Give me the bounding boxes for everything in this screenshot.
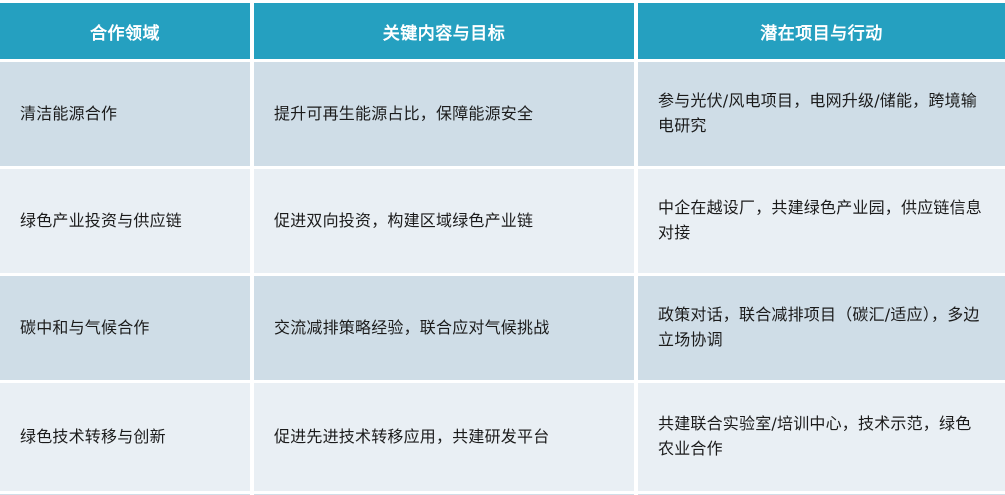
cell-content: 促进双向投资，构建区域绿色产业链 xyxy=(254,169,638,276)
column-header-area: 合作领域 xyxy=(0,0,254,62)
cell-content: 提升可再生能源占比，保障能源安全 xyxy=(254,62,638,169)
table-row: 碳中和与气候合作 交流减排策略经验，联合应对气候挑战 政策对话，联合减排项目（碳… xyxy=(0,276,1005,383)
header-row: 合作领域 关键内容与目标 潜在项目与行动 xyxy=(0,0,1005,62)
cell-area: 碳中和与气候合作 xyxy=(0,276,254,383)
cell-area: 绿色技术转移与创新 xyxy=(0,383,254,494)
cell-content: 促进先进技术转移应用，共建研发平台 xyxy=(254,383,638,494)
table-row: 绿色产业投资与供应链 促进双向投资，构建区域绿色产业链 中企在越设厂，共建绿色产… xyxy=(0,169,1005,276)
cell-actions: 共建联合实验室/培训中心，技术示范，绿色农业合作 xyxy=(638,383,1005,494)
cell-content: 交流减排策略经验，联合应对气候挑战 xyxy=(254,276,638,383)
column-header-actions: 潜在项目与行动 xyxy=(638,0,1005,62)
table-container: 全国绿色共同体 National Green Integration Commu… xyxy=(0,0,1005,495)
table-row: 绿色技术转移与创新 促进先进技术转移应用，共建研发平台 共建联合实验室/培训中心… xyxy=(0,383,1005,494)
cell-area: 清洁能源合作 xyxy=(0,62,254,169)
table-header: 合作领域 关键内容与目标 潜在项目与行动 xyxy=(0,0,1005,62)
cell-area: 绿色产业投资与供应链 xyxy=(0,169,254,276)
cell-actions: 中企在越设厂，共建绿色产业园，供应链信息对接 xyxy=(638,169,1005,276)
cell-actions: 政策对话，联合减排项目（碳汇/适应），多边立场协调 xyxy=(638,276,1005,383)
column-header-content: 关键内容与目标 xyxy=(254,0,638,62)
table-row: 清洁能源合作 提升可再生能源占比，保障能源安全 参与光伏/风电项目，电网升级/储… xyxy=(0,62,1005,169)
cooperation-table: 合作领域 关键内容与目标 潜在项目与行动 清洁能源合作 提升可再生能源占比，保障… xyxy=(0,0,1005,495)
table-body: 清洁能源合作 提升可再生能源占比，保障能源安全 参与光伏/风电项目，电网升级/储… xyxy=(0,62,1005,495)
cell-actions: 参与光伏/风电项目，电网升级/储能，跨境输电研究 xyxy=(638,62,1005,169)
